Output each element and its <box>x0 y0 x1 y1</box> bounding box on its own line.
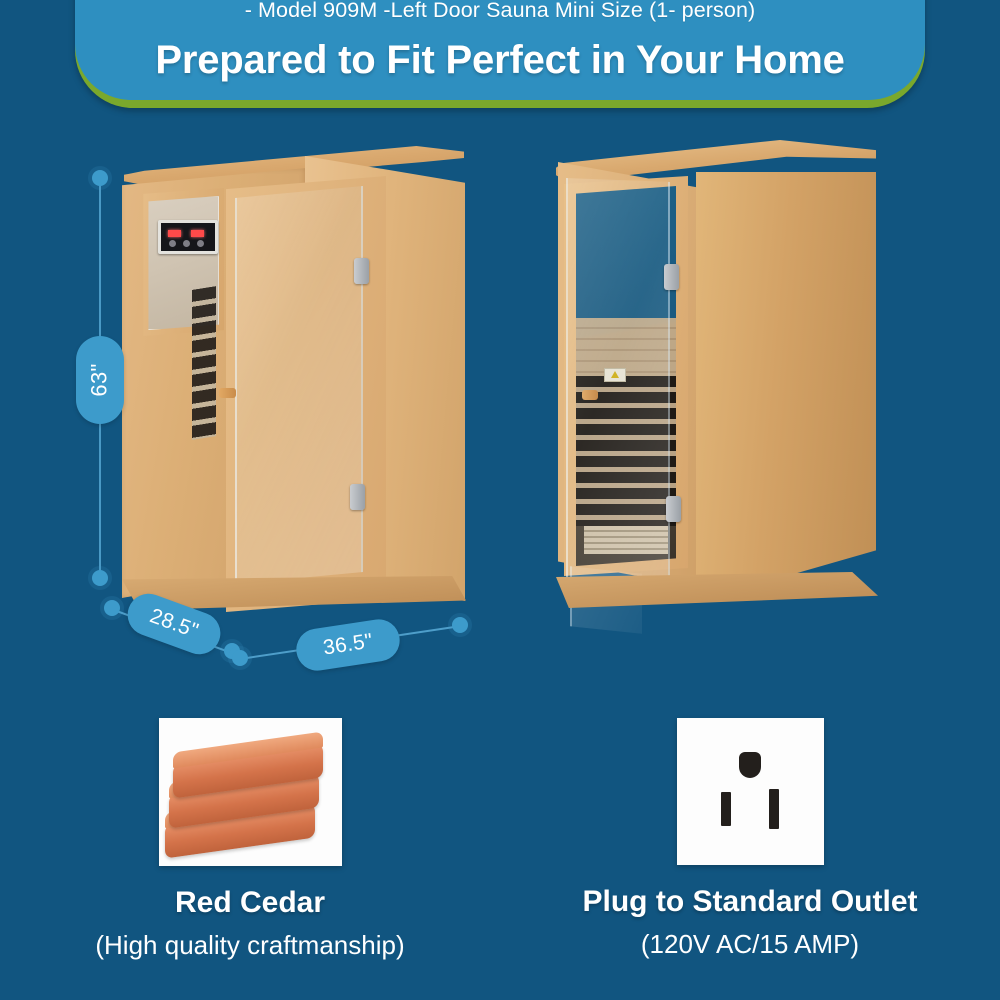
led-display-right <box>191 230 204 237</box>
wall-outlet-image <box>677 718 824 865</box>
control-knob <box>183 240 190 247</box>
led-display-left <box>168 230 181 237</box>
width-dimension-endpoint-b <box>452 617 468 633</box>
heater-panel-side <box>192 286 216 440</box>
door-handle <box>219 388 236 398</box>
door-hinge-top <box>354 258 369 284</box>
floor-grate <box>584 526 668 554</box>
header-banner: - Model 909M -Left Door Sauna Mini Size … <box>75 0 925 108</box>
control-knob <box>169 240 176 247</box>
width-dimension-endpoint-a <box>232 650 248 666</box>
height-dimension-value: 63" <box>87 363 113 396</box>
feature-title-power: Plug to Standard Outlet <box>583 887 918 917</box>
sauna-side-wall <box>696 172 876 602</box>
door-handle <box>582 390 598 400</box>
control-panel <box>158 220 218 254</box>
outlet-ground-hole-icon <box>739 752 761 778</box>
depth-dimension-endpoint-a <box>104 600 120 616</box>
board-top-face <box>173 731 323 768</box>
feature-subtitle-power: (120V AC/15 AMP) <box>641 931 859 957</box>
outlet-slot-left-icon <box>721 792 731 826</box>
feature-subtitle-material: (High quality craftmanship) <box>95 932 404 958</box>
height-dimension-endpoint-bottom <box>92 570 108 586</box>
outlet-slot-right-icon <box>769 789 779 829</box>
control-knob <box>197 240 204 247</box>
feature-title-material: Red Cedar <box>175 888 325 918</box>
cedar-boards-image <box>159 718 342 866</box>
sauna-base <box>556 572 878 608</box>
sauna-front-view <box>118 146 468 616</box>
page-title: Prepared to Fit Perfect in Your Home <box>155 40 844 80</box>
feature-material: Red Cedar (High quality craftmanship) <box>0 718 500 988</box>
caution-triangle-icon <box>604 368 626 382</box>
door-hinge-bottom <box>666 496 681 522</box>
feature-row: Red Cedar (High quality craftmanship) Pl… <box>0 718 1000 988</box>
glass-door <box>235 186 363 584</box>
interior-wood-wall <box>576 318 676 378</box>
door-hinge-bottom <box>350 484 365 510</box>
door-hinge-top <box>664 264 679 290</box>
feature-power: Plug to Standard Outlet (120V AC/15 AMP) <box>500 718 1000 988</box>
sauna-open-door-view <box>548 140 878 630</box>
infographic-canvas: - Model 909M -Left Door Sauna Mini Size … <box>0 0 1000 1000</box>
header-subtitle: - Model 909M -Left Door Sauna Mini Size … <box>245 0 756 22</box>
banner-text-group: - Model 909M -Left Door Sauna Mini Size … <box>75 0 925 100</box>
width-dimension-label: 36.5" <box>293 617 402 674</box>
height-dimension-endpoint-top <box>92 170 108 186</box>
height-dimension-label: 63" <box>76 336 124 424</box>
